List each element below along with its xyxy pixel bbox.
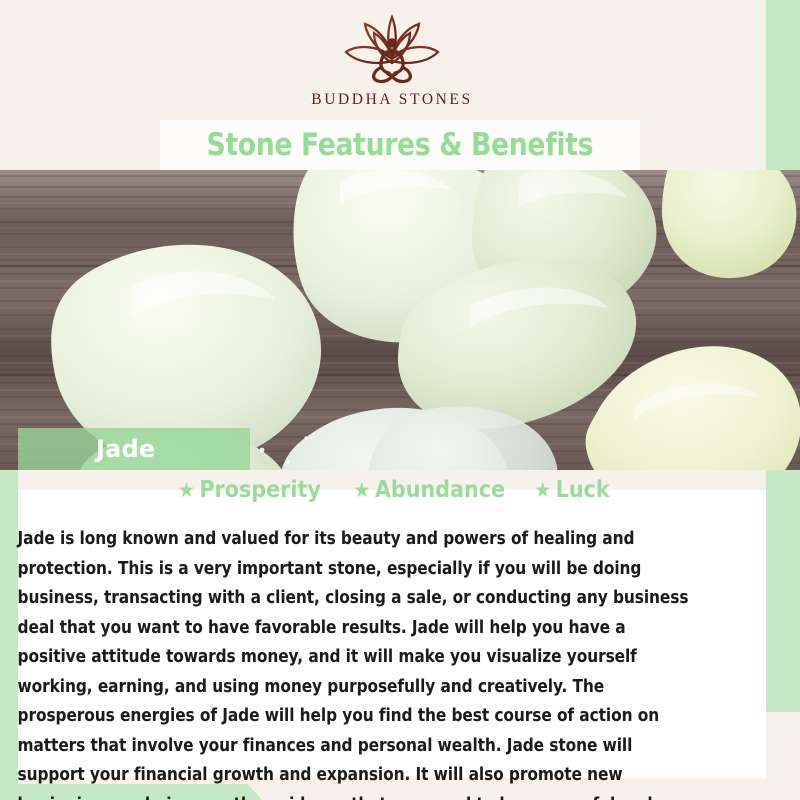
benefit-item: ★ Prosperity (178, 477, 321, 503)
description-section: ★ Prosperity ★ Abundance ★ Luck Jade is … (18, 470, 766, 784)
stone-name: Jade (96, 435, 155, 463)
stone-photo (0, 170, 800, 470)
benefit-label: Abundance (375, 477, 505, 503)
lotus-meditation-icon (334, 13, 450, 87)
stone-info-poster: BUDDHA STONES Stone Features & Benefits (0, 0, 800, 800)
brand-header: BUDDHA STONES (18, 0, 766, 122)
benefit-label: Luck (555, 477, 609, 503)
benefit-item: ★ Luck (534, 477, 609, 503)
star-icon: ★ (178, 480, 195, 501)
star-icon: ★ (534, 480, 551, 501)
benefits-row: ★ Prosperity ★ Abundance ★ Luck (18, 470, 766, 510)
benefit-item: ★ Abundance (354, 477, 506, 503)
page-title: Stone Features & Benefits (207, 127, 594, 163)
benefit-label: Prosperity (200, 477, 321, 503)
brand-wordmark: BUDDHA STONES (311, 91, 472, 109)
title-band: Stone Features & Benefits (160, 120, 640, 170)
star-icon: ★ (354, 480, 371, 501)
stone-description: Jade is long known and valued for its be… (14, 525, 694, 800)
stone-name-plate: Jade (18, 428, 250, 470)
